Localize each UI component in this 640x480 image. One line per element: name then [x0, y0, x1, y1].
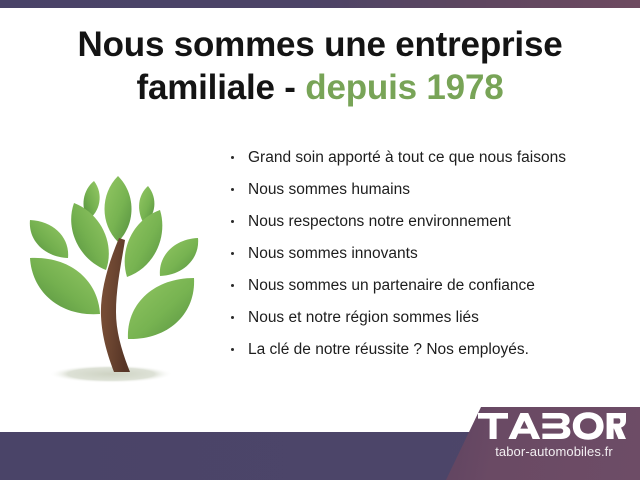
list-item: Grand soin apporté à tout ce que nous fa… — [228, 148, 628, 169]
page-title: Nous sommes une entreprise familiale - d… — [0, 25, 640, 108]
benefits-list: Grand soin apporté à tout ce que nous fa… — [228, 148, 628, 371]
headline-accent: depuis 1978 — [305, 68, 503, 107]
bullet-dot-icon — [231, 252, 234, 255]
headline-line-1: Nous sommes une entreprise — [0, 25, 640, 66]
list-item: Nous et notre région sommes liés — [228, 308, 628, 329]
bullet-dot-icon — [231, 188, 234, 191]
headline-prefix: familiale — [137, 68, 275, 107]
list-item: Nous sommes innovants — [228, 244, 628, 265]
list-item-label: La clé de notre réussite ? Nos employés. — [248, 341, 529, 358]
bullet-dot-icon — [231, 316, 234, 319]
bullet-dot-icon — [231, 220, 234, 223]
slide-canvas: Nous sommes une entreprise familiale - d… — [0, 0, 640, 480]
headline-dash: - — [275, 68, 306, 107]
headline-line-2: familiale - depuis 1978 — [0, 68, 640, 109]
list-item: Nous sommes humains — [228, 180, 628, 201]
tree-icon — [8, 146, 228, 391]
list-item-label: Nous respectons notre environnement — [248, 213, 511, 230]
top-accent-bar — [0, 0, 640, 8]
list-item-label: Nous sommes innovants — [248, 245, 418, 262]
list-item-label: Nous sommes humains — [248, 181, 410, 198]
bullet-dot-icon — [231, 284, 234, 287]
list-item-label: Grand soin apporté à tout ce que nous fa… — [248, 149, 566, 166]
list-item: Nous respectons notre environnement — [228, 212, 628, 233]
tabor-wordmark-icon — [478, 411, 626, 441]
bullet-dot-icon — [231, 348, 234, 351]
bullet-dot-icon — [231, 156, 234, 159]
list-item: La clé de notre réussite ? Nos employés. — [228, 340, 628, 361]
logo-tagline: tabor-automobiles.fr — [478, 444, 630, 459]
list-item-label: Nous et notre région sommes liés — [248, 309, 479, 326]
list-item: Nous sommes un partenaire de confiance — [228, 276, 628, 297]
list-item-label: Nous sommes un partenaire de confiance — [248, 277, 535, 294]
